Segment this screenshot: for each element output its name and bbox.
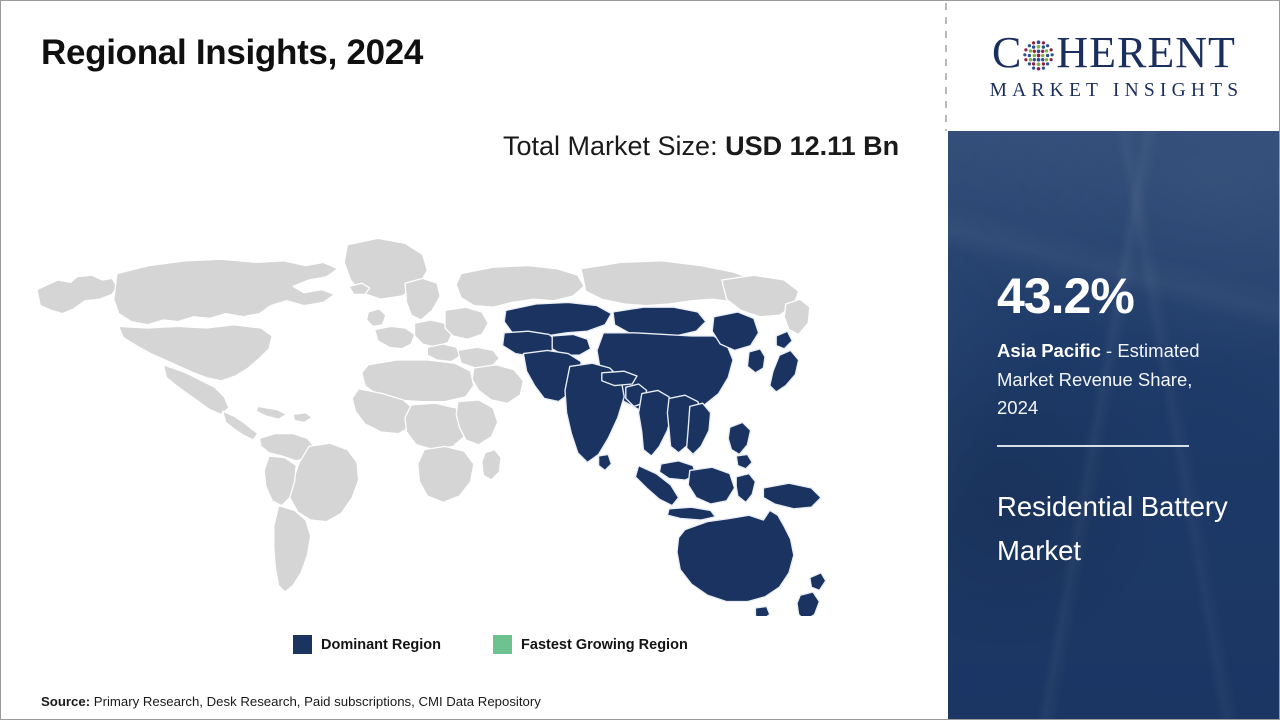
country-southafrica	[418, 446, 474, 502]
legend-swatch-dominant-icon	[293, 635, 312, 654]
brand-logo-letters-herent: HERENT	[1056, 31, 1236, 75]
stat-panel-content: 43.2% Asia Pacific - Estimated Market Re…	[948, 271, 1280, 574]
country-java	[667, 507, 715, 520]
brand-logo-wordmark: C	[992, 31, 1236, 75]
stat-description: Asia Pacific - Estimated Market Revenue …	[997, 337, 1234, 423]
stat-panel: 43.2% Asia Pacific - Estimated Market Re…	[948, 131, 1280, 719]
country-cuba	[256, 406, 286, 419]
map-legend: Dominant Region Fastest Growing Region	[293, 635, 688, 654]
country-alaska	[37, 275, 117, 313]
brand-logo-subtitle: MARKET INSIGHTS	[985, 80, 1244, 102]
main-content-area: Regional Insights, 2024 Total Market Siz…	[1, 1, 945, 719]
country-australia	[677, 510, 794, 601]
legend-swatch-fastest-icon	[493, 635, 512, 654]
infographic-canvas: Regional Insights, 2024 Total Market Siz…	[0, 0, 1280, 720]
brand-logo: C	[948, 2, 1280, 131]
stat-region-name: Asia Pacific	[997, 340, 1101, 361]
brand-logo-letter-c: C	[992, 31, 1022, 75]
country-scandinavia	[405, 278, 440, 320]
world-map	[29, 216, 829, 616]
stat-percentage-value: 43.2%	[997, 271, 1234, 321]
stat-market-name: Residential Battery Market	[997, 485, 1234, 574]
vertical-dashed-divider	[945, 3, 947, 131]
country-westeurope	[375, 326, 415, 348]
total-market-size: Total Market Size: USD 12.11 Bn	[503, 127, 913, 166]
source-note: Source: Primary Research, Desk Research,…	[41, 694, 541, 709]
country-myanmar-thailand	[639, 390, 673, 456]
source-text: Primary Research, Desk Research, Paid su…	[90, 694, 541, 709]
world-map-svg	[29, 216, 829, 616]
globe-dots-icon	[1021, 38, 1056, 73]
country-vietnam	[687, 403, 711, 454]
country-tasmania	[755, 606, 769, 616]
total-market-size-label: Total Market Size:	[503, 131, 725, 161]
country-chile-argentina	[274, 506, 311, 592]
source-label: Source:	[41, 694, 90, 709]
country-canada	[114, 259, 338, 325]
country-nepal-bhutan	[602, 371, 637, 385]
country-japan	[770, 331, 799, 392]
country-kamchatka	[784, 299, 810, 334]
country-uk-ireland	[367, 309, 386, 327]
country-mongolia	[613, 307, 706, 336]
country-borneo	[688, 467, 734, 504]
country-philippines	[728, 422, 752, 468]
country-papua-new-guinea	[763, 483, 821, 509]
country-korea	[747, 349, 765, 373]
legend-label-dominant: Dominant Region	[321, 637, 441, 653]
country-easteurope	[445, 307, 488, 339]
country-centralamerica	[223, 411, 258, 440]
country-srilanka	[599, 454, 612, 470]
country-caribbean	[293, 413, 312, 423]
legend-fastest-growing-region: Fastest Growing Region	[493, 635, 688, 654]
country-newzealand	[797, 573, 826, 616]
stat-divider	[997, 445, 1189, 447]
legend-label-fastest: Fastest Growing Region	[521, 637, 688, 653]
total-market-size-value: USD 12.11 Bn	[725, 131, 899, 161]
country-sulawesi	[736, 474, 755, 503]
country-russia-west	[456, 266, 584, 308]
page-title: Regional Insights, 2024	[41, 33, 423, 73]
country-middleeast	[472, 365, 523, 403]
country-madagascar	[482, 450, 501, 480]
map-highlight-asia-pacific	[503, 302, 826, 616]
legend-dominant-region: Dominant Region	[293, 635, 441, 654]
country-usa	[119, 325, 273, 381]
country-balkans	[427, 344, 461, 362]
